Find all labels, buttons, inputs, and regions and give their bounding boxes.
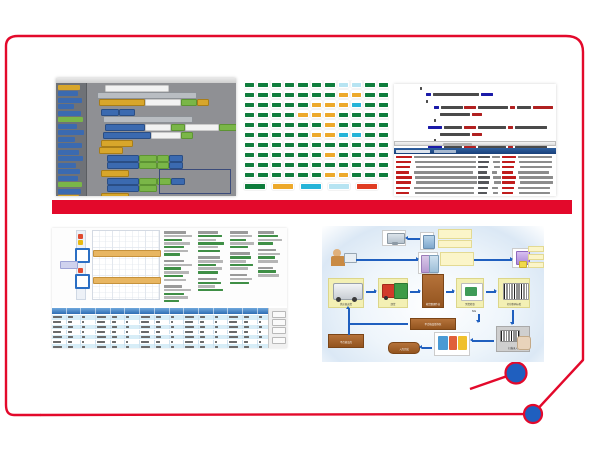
slot-cell-r8-c8[interactable] [338, 150, 349, 158]
node-delivery-truck: 供应商送货 [328, 278, 364, 308]
slot-grid-legend [244, 180, 394, 192]
slot-cell-r8-c10[interactable] [364, 150, 375, 158]
arrowhead-11 [346, 306, 350, 309]
slot-cell-r1-c3[interactable] [271, 80, 282, 88]
slot-cell-r4-c2[interactable] [257, 110, 268, 118]
label-unloading: 卸货 [379, 303, 407, 306]
table-cell[interactable] [228, 340, 243, 345]
slot-cell-r8-c6[interactable] [311, 150, 322, 158]
slot-cell-r9-c3[interactable] [271, 160, 282, 168]
slot-cell-r4-c11[interactable] [378, 110, 389, 118]
status-lamp-red-2 [78, 268, 83, 273]
node-inbound-done: 入库完成 [388, 342, 420, 354]
table-cell[interactable] [170, 340, 185, 345]
slot-cell-r3-c7[interactable] [324, 100, 335, 108]
schedule-tag[interactable] [60, 261, 78, 269]
label-reject-return: 不合格品库 [329, 341, 363, 344]
slot-cell-r2-c4[interactable] [284, 90, 295, 98]
side-button-3[interactable] [272, 327, 286, 334]
screenshot-blocks-editor[interactable] [56, 78, 236, 196]
node-out-tag-1 [528, 246, 544, 252]
table-column-header-10[interactable] [184, 308, 199, 314]
slot-cell-r7-c11[interactable] [378, 140, 389, 148]
table-cell[interactable] [155, 315, 170, 320]
slot-cell-r10-c11[interactable] [378, 170, 389, 178]
schedule-bar-1 [93, 250, 161, 257]
status-lamp-red [78, 234, 83, 239]
slot-cell-r10-c9[interactable] [351, 170, 362, 178]
slot-cell-r1-c9[interactable] [351, 80, 362, 88]
slot-cell-r3-c2[interactable] [257, 100, 268, 108]
log-row[interactable] [394, 186, 556, 190]
slot-cell-r2-c6[interactable] [311, 90, 322, 98]
schedule-bar-2 [93, 277, 161, 284]
arrowhead-2 [416, 257, 419, 261]
table-cell[interactable] [199, 315, 214, 320]
log-row[interactable] [394, 191, 556, 195]
slot-cell-r10-c6[interactable] [311, 170, 322, 178]
table-column-header-14[interactable] [243, 308, 258, 314]
table-cell[interactable] [81, 344, 96, 348]
slot-cell-r4-c6[interactable] [311, 110, 322, 118]
table-cell[interactable] [67, 344, 82, 348]
slot-cell-r8-c9[interactable] [351, 150, 362, 158]
table-cell[interactable] [214, 335, 229, 340]
table-cell[interactable] [214, 330, 229, 335]
table-cell[interactable] [140, 344, 155, 348]
slot-cell-r9-c4[interactable] [284, 160, 295, 168]
table-cell[interactable] [214, 315, 229, 320]
slot-cell-r3-c5[interactable] [297, 100, 308, 108]
slot-cell-r9-c10[interactable] [364, 160, 375, 168]
slot-cell-r5-c5[interactable] [297, 120, 308, 128]
slot-cell-r6-c2[interactable] [257, 130, 268, 138]
table-column-header-8[interactable] [155, 308, 170, 314]
slot-cell-r8-c11[interactable] [378, 150, 389, 158]
table-row[interactable] [52, 330, 287, 335]
table-cell[interactable] [52, 320, 67, 325]
slot-cell-r7-c5[interactable] [297, 140, 308, 148]
log-row[interactable] [394, 176, 556, 180]
table-cell[interactable] [111, 315, 126, 320]
slot-cell-r5-c4[interactable] [284, 120, 295, 128]
table-cell[interactable] [52, 315, 67, 320]
side-button-1[interactable] [272, 311, 286, 318]
table-cell[interactable] [125, 330, 140, 335]
table-column-header-12[interactable] [214, 308, 229, 314]
slot-cell-r6-c1[interactable] [244, 130, 255, 138]
table-cell[interactable] [170, 344, 185, 348]
table-cell[interactable] [184, 320, 199, 325]
log-row[interactable] [394, 165, 556, 169]
slot-cell-r8-c7[interactable] [324, 150, 335, 158]
slot-cell-r5-c6[interactable] [311, 120, 322, 128]
table-cell[interactable] [184, 325, 199, 330]
slot-cell-r5-c1[interactable] [244, 120, 255, 128]
label-receiving: 收货整理作业 [423, 303, 443, 306]
table-column-header-5[interactable] [111, 308, 126, 314]
slot-cell-r7-c9[interactable] [351, 140, 362, 148]
table-cell[interactable] [96, 344, 111, 348]
table-cell[interactable] [170, 335, 185, 340]
table-cell[interactable] [67, 325, 82, 330]
table-cell[interactable] [111, 344, 126, 348]
label-inbound-done: 入库完成 [389, 348, 419, 351]
section-divider-bar [52, 200, 572, 214]
table-column-header-4[interactable] [96, 308, 111, 314]
slot-cell-r2-c7[interactable] [324, 90, 335, 98]
slot-cell-r4-c4[interactable] [284, 110, 295, 118]
slot-cell-r5-c9[interactable] [351, 120, 362, 128]
arrow-reject-up [348, 308, 350, 324]
table-cell[interactable] [81, 325, 96, 330]
slot-cell-r7-c8[interactable] [338, 140, 349, 148]
slot-cell-r6-c10[interactable] [364, 130, 375, 138]
slot-cell-r5-c3[interactable] [271, 120, 282, 128]
table-cell[interactable] [140, 340, 155, 345]
table-cell[interactable] [228, 330, 243, 335]
table-cell[interactable] [125, 320, 140, 325]
slot-cell-r3-c11[interactable] [378, 100, 389, 108]
slot-cell-r3-c9[interactable] [351, 100, 362, 108]
slot-cell-r10-c4[interactable] [284, 170, 295, 178]
node-notice-list [438, 229, 472, 239]
table-cell[interactable] [184, 315, 199, 320]
table-cell[interactable] [52, 325, 67, 330]
slot-cell-r10-c10[interactable] [364, 170, 375, 178]
table-cell[interactable] [111, 320, 126, 325]
slot-cell-r9-c5[interactable] [297, 160, 308, 168]
table-column-header-11[interactable] [199, 308, 214, 314]
table-column-header-13[interactable] [228, 308, 243, 314]
slot-cell-r4-c3[interactable] [271, 110, 282, 118]
table-cell[interactable] [228, 344, 243, 348]
table-column-header-6[interactable] [125, 308, 140, 314]
table-cell[interactable] [96, 335, 111, 340]
data-table-side-toolbar[interactable] [268, 308, 287, 348]
table-cell[interactable] [111, 330, 126, 335]
scrollbar-thumb[interactable] [443, 143, 472, 146]
table-cell[interactable] [67, 315, 82, 320]
slot-cell-r9-c11[interactable] [378, 160, 389, 168]
slot-cell-r3-c4[interactable] [284, 100, 295, 108]
slot-cell-r1-c7[interactable] [324, 80, 335, 88]
slot-cell-r9-c8[interactable] [338, 160, 349, 168]
table-cell[interactable] [243, 330, 258, 335]
slot-cell-r4-c5[interactable] [297, 110, 308, 118]
slot-cell-r4-c10[interactable] [364, 110, 375, 118]
slot-cell-r6-c8[interactable] [338, 130, 349, 138]
slot-cell-r6-c6[interactable] [311, 130, 322, 138]
table-cell[interactable] [243, 325, 258, 330]
slot-cell-r8-c5[interactable] [297, 150, 308, 158]
data-table[interactable] [52, 308, 287, 348]
slot-cell-r5-c10[interactable] [364, 120, 375, 128]
log-header-source-selector[interactable] [434, 150, 456, 153]
slot-cell-r1-c5[interactable] [297, 80, 308, 88]
table-cell[interactable] [52, 344, 67, 348]
slot-cell-r8-c1[interactable] [244, 150, 255, 158]
slot-cell-r7-c10[interactable] [364, 140, 375, 148]
slot-cell-r10-c3[interactable] [271, 170, 282, 178]
table-cell[interactable] [199, 320, 214, 325]
slot-cell-r6-c4[interactable] [284, 130, 295, 138]
table-cell[interactable] [52, 340, 67, 345]
slot-cell-r2-c3[interactable] [271, 90, 282, 98]
slot-cell-r2-c10[interactable] [364, 90, 375, 98]
slot-cell-r3-c1[interactable] [244, 100, 255, 108]
legend-item-empty [328, 183, 350, 190]
table-row[interactable] [52, 325, 287, 330]
arrow-operator-to-erp [356, 259, 418, 261]
table-cell[interactable] [170, 320, 185, 325]
slot-cell-r10-c2[interactable] [257, 170, 268, 178]
slot-cell-r7-c2[interactable] [257, 140, 268, 148]
log-output-list[interactable] [394, 154, 556, 196]
blocks-editor-palette[interactable] [56, 83, 87, 196]
table-row[interactable] [52, 335, 287, 340]
side-button-2[interactable] [272, 319, 286, 326]
slot-cell-r2-c11[interactable] [378, 90, 389, 98]
slot-cell-r10-c7[interactable] [324, 170, 335, 178]
slot-cell-r8-c4[interactable] [284, 150, 295, 158]
slot-cell-r2-c9[interactable] [351, 90, 362, 98]
slot-grid-container[interactable] [244, 80, 389, 180]
slot-cell-r10-c8[interactable] [338, 170, 349, 178]
table-cell[interactable] [170, 315, 185, 320]
slot-cell-r1-c6[interactable] [311, 80, 322, 88]
slot-cell-r3-c10[interactable] [364, 100, 375, 108]
slot-cell-r6-c5[interactable] [297, 130, 308, 138]
slot-cell-r5-c8[interactable] [338, 120, 349, 128]
table-cell[interactable] [140, 335, 155, 340]
slot-cell-r10-c5[interactable] [297, 170, 308, 178]
table-cell[interactable] [111, 335, 126, 340]
table-cell[interactable] [199, 340, 214, 345]
arrow-erp-to-report [474, 259, 512, 261]
slide-decor-frame [0, 0, 600, 450]
slot-cell-r8-c2[interactable] [257, 150, 268, 158]
slot-cell-r1-c4[interactable] [284, 80, 295, 88]
arrow-supplier-to-order [408, 238, 420, 240]
code-editor-text-area[interactable] [394, 84, 556, 140]
table-cell[interactable] [199, 325, 214, 330]
table-cell[interactable] [96, 330, 111, 335]
table-cell[interactable] [228, 315, 243, 320]
slot-cell-r3-c8[interactable] [338, 100, 349, 108]
node-label-print: 打印条码标签 [498, 278, 530, 308]
slot-cell-r6-c3[interactable] [271, 130, 282, 138]
slot-cell-r3-c6[interactable] [311, 100, 322, 108]
slot-cell-r4-c9[interactable] [351, 110, 362, 118]
table-cell[interactable] [228, 320, 243, 325]
table-cell[interactable] [243, 335, 258, 340]
slot-cell-r4-c8[interactable] [338, 110, 349, 118]
schedule-node-b[interactable] [75, 274, 90, 289]
table-cell[interactable] [81, 330, 96, 335]
table-cell[interactable] [67, 340, 82, 345]
slot-cell-r3-c3[interactable] [271, 100, 282, 108]
screenshot-warehouse-slot-grid[interactable] [244, 80, 389, 180]
slot-cell-r2-c8[interactable] [338, 90, 349, 98]
table-cell[interactable] [81, 320, 96, 325]
slot-cell-r2-c2[interactable] [257, 90, 268, 98]
table-cell[interactable] [214, 340, 229, 345]
table-cell[interactable] [140, 330, 155, 335]
table-cell[interactable] [96, 340, 111, 345]
table-cell[interactable] [228, 335, 243, 340]
screenshot-code-editor[interactable] [394, 84, 556, 196]
table-cell[interactable] [67, 335, 82, 340]
slot-cell-r2-c5[interactable] [297, 90, 308, 98]
schedule-text-col-1 [164, 231, 194, 304]
table-cell[interactable] [140, 315, 155, 320]
slot-cell-r5-c11[interactable] [378, 120, 389, 128]
slot-cell-r2-c1[interactable] [244, 90, 255, 98]
table-cell[interactable] [170, 330, 185, 335]
schedule-top-region[interactable] [52, 228, 287, 306]
arrow-scan-to-putaway [472, 340, 494, 342]
table-cell[interactable] [81, 340, 96, 345]
slide-canvas: 供应商送货 卸货 收货整理作业 到货检查 打印条码标签 不合格 [0, 0, 600, 450]
table-cell[interactable] [199, 344, 214, 348]
table-cell[interactable] [243, 315, 258, 320]
code-horizontal-scrollbar[interactable] [394, 141, 556, 146]
table-column-header-7[interactable] [140, 308, 155, 314]
slot-cell-r1-c8[interactable] [338, 80, 349, 88]
table-cell[interactable] [125, 325, 140, 330]
slot-cell-r7-c6[interactable] [311, 140, 322, 148]
table-cell[interactable] [184, 330, 199, 335]
table-cell[interactable] [155, 325, 170, 330]
slot-cell-r6-c9[interactable] [351, 130, 362, 138]
blocks-editor-canvas[interactable] [87, 83, 236, 196]
table-cell[interactable] [228, 325, 243, 330]
table-row[interactable] [52, 344, 287, 348]
table-cell[interactable] [140, 325, 155, 330]
table-row[interactable] [52, 340, 287, 345]
table-cell[interactable] [111, 340, 126, 345]
screenshot-logistics-flow-diagram[interactable]: 供应商送货 卸货 收货整理作业 到货检查 打印条码标签 不合格 [322, 226, 544, 362]
legend-item-reserved [272, 183, 294, 190]
slot-cell-r8-c3[interactable] [271, 150, 282, 158]
log-row[interactable] [394, 155, 556, 159]
table-cell[interactable] [125, 315, 140, 320]
table-cell[interactable] [199, 330, 214, 335]
table-cell[interactable] [155, 330, 170, 335]
node-quality-check: 到货检查 [456, 278, 484, 308]
table-cell[interactable] [81, 335, 96, 340]
schedule-grid-sheet[interactable] [92, 230, 160, 300]
slot-cell-r9-c1[interactable] [244, 160, 255, 168]
table-cell[interactable] [96, 320, 111, 325]
table-cell[interactable] [170, 325, 185, 330]
table-column-header-3[interactable] [81, 308, 96, 314]
table-cell[interactable] [52, 330, 67, 335]
table-cell[interactable] [155, 320, 170, 325]
table-cell[interactable] [243, 340, 258, 345]
table-cell[interactable] [67, 320, 82, 325]
arrowhead-9 [470, 338, 473, 342]
slot-cell-r7-c4[interactable] [284, 140, 295, 148]
table-cell[interactable] [214, 325, 229, 330]
table-cell[interactable] [184, 344, 199, 348]
table-cell[interactable] [125, 344, 140, 348]
table-cell[interactable] [214, 320, 229, 325]
table-cell[interactable] [96, 325, 111, 330]
slot-cell-r4-c1[interactable] [244, 110, 255, 118]
arrowhead-1 [405, 236, 408, 240]
frame-tail [40, 360, 583, 415]
table-cell[interactable] [243, 320, 258, 325]
slot-cell-r9-c9[interactable] [351, 160, 362, 168]
slot-cell-r5-c7[interactable] [324, 120, 335, 128]
slot-cell-r7-c1[interactable] [244, 140, 255, 148]
table-cell[interactable] [243, 344, 258, 348]
slot-cell-r9-c6[interactable] [311, 160, 322, 168]
node-putaway [434, 332, 470, 356]
table-cell[interactable] [184, 340, 199, 345]
table-cell[interactable] [214, 344, 229, 348]
table-cell[interactable] [81, 315, 96, 320]
arrowhead-8 [510, 322, 514, 325]
data-table-header-row[interactable] [52, 308, 287, 314]
slot-cell-r1-c11[interactable] [378, 80, 389, 88]
slot-cell-r5-c2[interactable] [257, 120, 268, 128]
table-row[interactable] [52, 320, 287, 325]
arrow-putaway-to-done [422, 347, 432, 349]
table-cell[interactable] [184, 335, 199, 340]
table-cell[interactable] [155, 344, 170, 348]
table-cell[interactable] [67, 330, 82, 335]
table-column-header-9[interactable] [170, 308, 185, 314]
table-cell[interactable] [52, 335, 67, 340]
table-cell[interactable] [111, 325, 126, 330]
side-button-4[interactable] [272, 337, 286, 344]
screenshot-schedule-and-table[interactable] [52, 228, 287, 348]
slot-cell-r1-c10[interactable] [364, 80, 375, 88]
node-supplier-terminal [382, 230, 406, 246]
slot-cell-r9-c7[interactable] [324, 160, 335, 168]
table-cell[interactable] [96, 315, 111, 320]
slot-cell-r6-c7[interactable] [324, 130, 335, 138]
slot-cell-r7-c7[interactable] [324, 140, 335, 148]
log-row[interactable] [394, 181, 556, 185]
slot-cell-r1-c2[interactable] [257, 80, 268, 88]
log-row[interactable] [394, 171, 556, 175]
log-row[interactable] [394, 160, 556, 164]
label-label-print: 打印条码标签 [499, 303, 529, 306]
slot-cell-r10-c1[interactable] [244, 170, 255, 178]
status-lamp-yellow [78, 240, 83, 245]
slot-cell-r1-c1[interactable] [244, 80, 255, 88]
label-reject-area: 不合格品暂存区 [411, 323, 455, 326]
table-row[interactable] [52, 315, 287, 320]
table-cell[interactable] [125, 340, 140, 345]
frame-diagonal [470, 373, 516, 389]
table-cell[interactable] [155, 335, 170, 340]
table-cell[interactable] [140, 320, 155, 325]
table-cell[interactable] [125, 335, 140, 340]
slot-cell-r9-c2[interactable] [257, 160, 268, 168]
slot-cell-r6-c11[interactable] [378, 130, 389, 138]
table-column-header-1[interactable] [52, 308, 67, 314]
slot-cell-r4-c7[interactable] [324, 110, 335, 118]
table-cell[interactable] [199, 335, 214, 340]
slot-cell-r7-c3[interactable] [271, 140, 282, 148]
table-column-header-2[interactable] [67, 308, 82, 314]
table-cell[interactable] [155, 340, 170, 345]
